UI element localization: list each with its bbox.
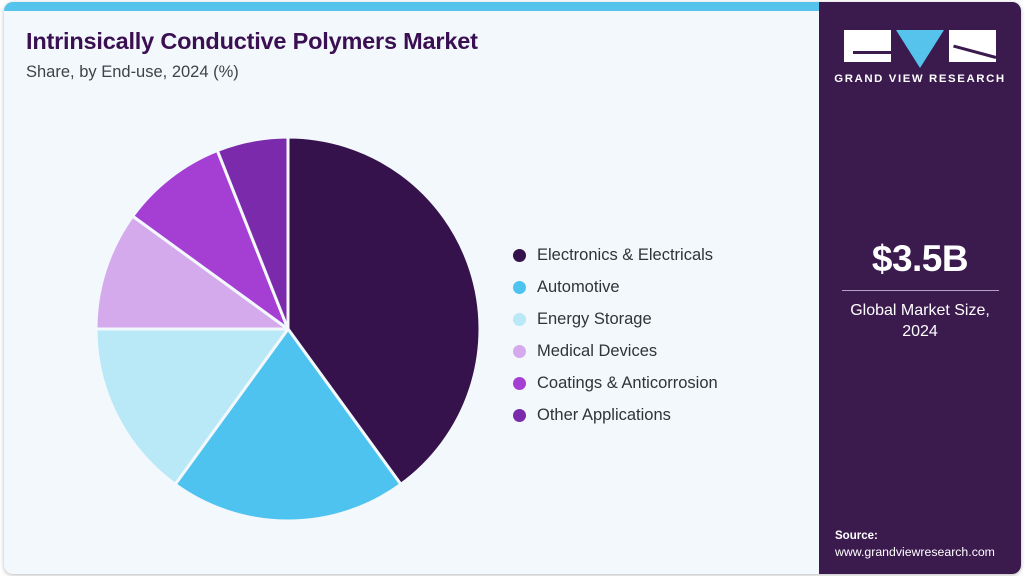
legend-item[interactable]: Coatings & Anticorrosion: [513, 367, 813, 399]
legend-item[interactable]: Other Applications: [513, 399, 813, 431]
logo-v-triangle-icon: [896, 30, 944, 68]
pie-chart: [95, 136, 481, 522]
report-card: Intrinsically Conductive Polymers Market…: [4, 2, 1021, 574]
legend-item[interactable]: Medical Devices: [513, 335, 813, 367]
logo-g-icon: [844, 30, 891, 62]
stat-value: $3.5B: [833, 240, 1007, 279]
brand-sidebar: GRAND VIEW RESEARCH $3.5B Global Market …: [819, 2, 1021, 574]
logo-wordmark: GRAND VIEW RESEARCH: [819, 73, 1021, 85]
legend-swatch-icon: [513, 345, 526, 358]
legend-item-label: Other Applications: [537, 407, 671, 424]
legend-item-label: Automotive: [537, 279, 620, 296]
legend-swatch-icon: [513, 281, 526, 294]
legend-swatch-icon: [513, 377, 526, 390]
legend-swatch-icon: [513, 249, 526, 262]
stat-divider: [842, 290, 999, 291]
legend-item-label: Coatings & Anticorrosion: [537, 375, 718, 392]
source-block: Source: www.grandviewresearch.com: [835, 528, 1017, 561]
chart-legend: Electronics & ElectricalsAutomotiveEnerg…: [513, 239, 813, 431]
legend-item[interactable]: Automotive: [513, 271, 813, 303]
legend-swatch-icon: [513, 409, 526, 422]
legend-item-label: Energy Storage: [537, 311, 652, 328]
legend-item-label: Electronics & Electricals: [537, 247, 713, 264]
logo-r-icon: [949, 30, 996, 62]
legend-item[interactable]: Electronics & Electricals: [513, 239, 813, 271]
market-size-stat: $3.5B Global Market Size, 2024: [819, 240, 1021, 343]
source-label: Source:: [835, 528, 1017, 545]
legend-item[interactable]: Energy Storage: [513, 303, 813, 335]
legend-item-label: Medical Devices: [537, 343, 657, 360]
logo-marks: [819, 30, 1021, 66]
stat-caption: Global Market Size, 2024: [833, 300, 1007, 343]
legend-swatch-icon: [513, 313, 526, 326]
brand-logo: GRAND VIEW RESEARCH: [819, 30, 1021, 85]
source-url[interactable]: www.grandviewresearch.com: [835, 544, 1017, 561]
